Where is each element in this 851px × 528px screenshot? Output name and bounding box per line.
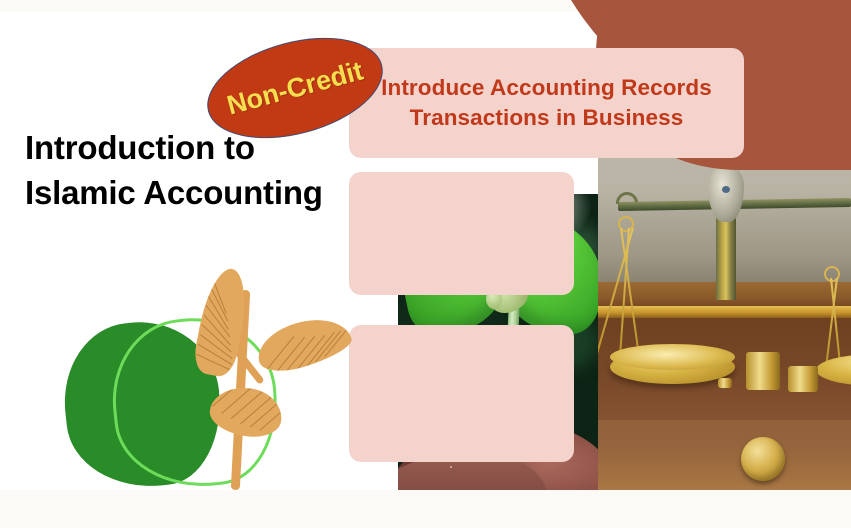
plant-illustration bbox=[60, 290, 355, 500]
scales-left-pan-rim bbox=[610, 344, 735, 370]
non-credit-badge-label: Non-Credit bbox=[224, 55, 367, 121]
scales-pivot-jewel bbox=[722, 186, 730, 193]
soil-speck bbox=[450, 466, 452, 468]
scales-base-gold-trim bbox=[598, 306, 851, 318]
header-panel: Introduce Accounting Records Transaction… bbox=[349, 48, 744, 158]
page-title: Introduction to Islamic Accounting bbox=[25, 125, 355, 215]
placeholder-panel-2 bbox=[349, 172, 574, 295]
scales-pivot bbox=[708, 164, 744, 222]
scales-weight bbox=[746, 352, 780, 390]
placeholder-panel-3 bbox=[349, 325, 574, 462]
illustration-leaf-right bbox=[252, 309, 356, 379]
slide-canvas: Introduce Accounting Records Transaction… bbox=[0, 0, 851, 528]
bottom-band bbox=[0, 490, 851, 528]
header-line-2: Transactions in Business bbox=[410, 105, 684, 130]
scales-weight bbox=[718, 378, 732, 388]
header-line-1: Introduce Accounting Records bbox=[381, 75, 712, 100]
scales-weight bbox=[788, 366, 818, 392]
header-panel-text: Introduce Accounting Records Transaction… bbox=[381, 73, 712, 133]
